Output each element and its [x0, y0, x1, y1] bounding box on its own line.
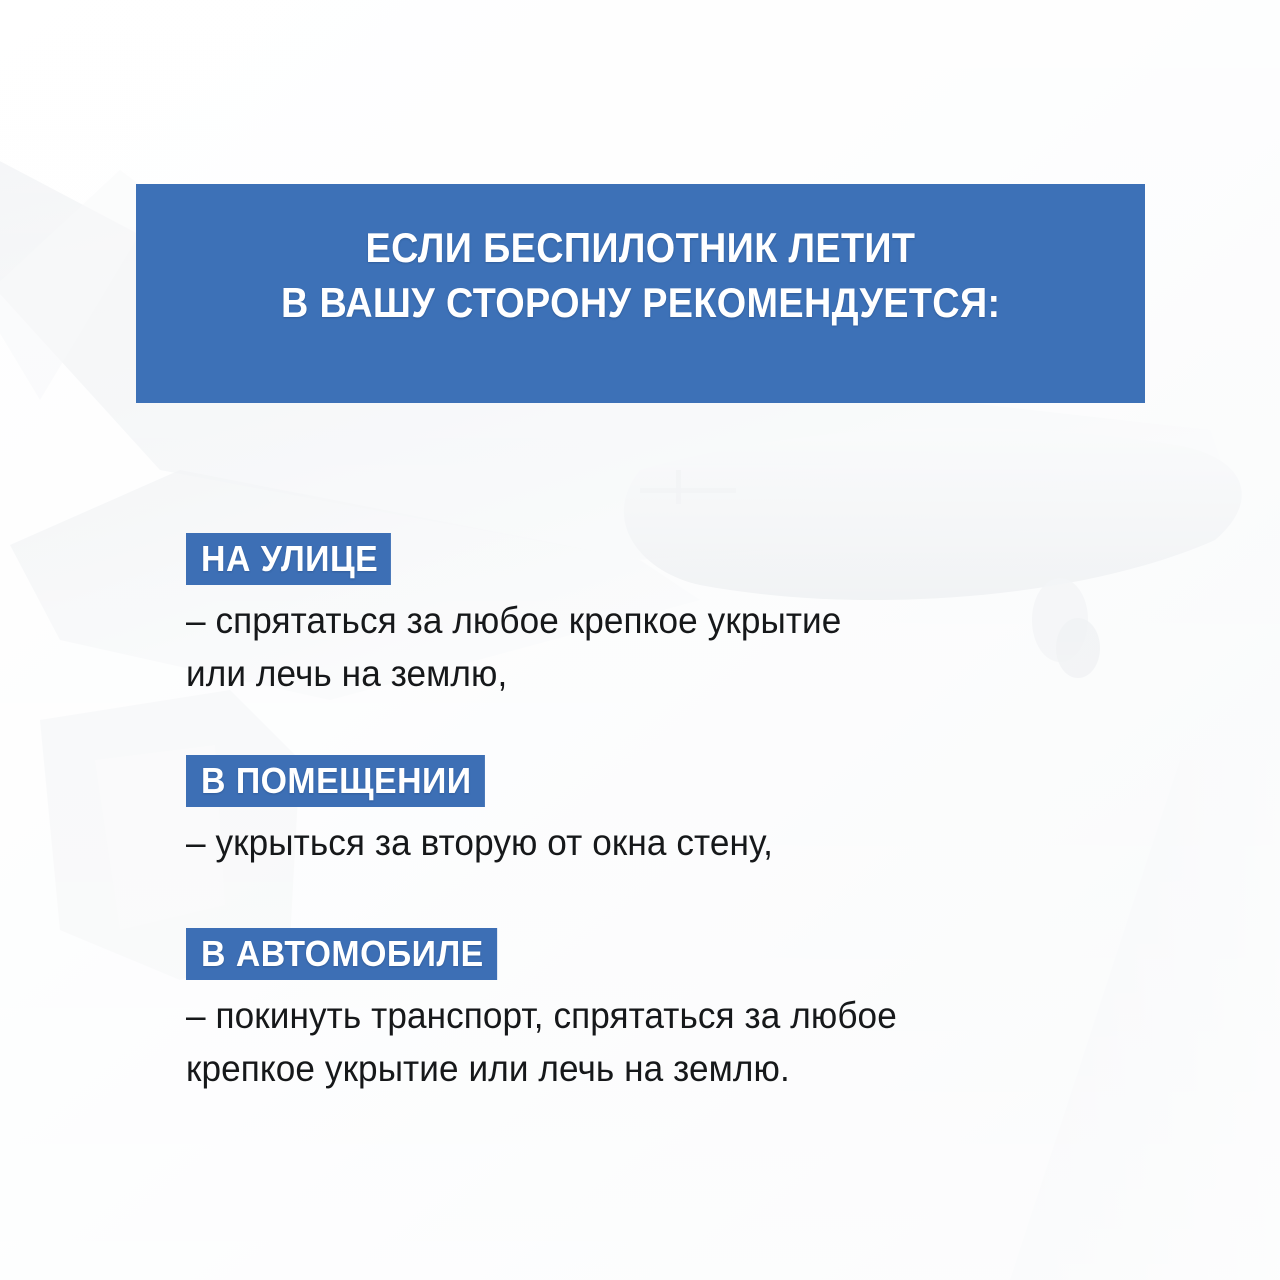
advice-text-street-line-2: или лечь на землю, — [186, 648, 841, 701]
infographic-poster: ЕСЛИ БЕСПИЛОТНИК ЛЕТИТ В ВАШУ СТОРОНУ РЕ… — [0, 0, 1280, 1280]
advice-text-street: – спрятаться за любое крепкое укрытие ил… — [186, 595, 841, 700]
advice-section-street: НА УЛИЦЕ – спрятаться за любое крепкое у… — [186, 533, 876, 700]
advice-section-car: В АВТОМОБИЛЕ – покинуть транспорт, спрят… — [186, 928, 934, 1095]
advice-text-car-line-1: – покинуть транспорт, спрятаться за любо… — [186, 990, 897, 1043]
badge-indoors: В ПОМЕЩЕНИИ — [186, 755, 485, 807]
advice-section-indoors: В ПОМЕЩЕНИИ – укрыться за вторую от окна… — [186, 755, 804, 870]
header-title-line-1: ЕСЛИ БЕСПИЛОТНИК ЛЕТИТ — [366, 221, 916, 276]
badge-car: В АВТОМОБИЛЕ — [186, 928, 497, 980]
header-title-line-2: В ВАШУ СТОРОНУ РЕКОМЕНДУЕТСЯ: — [281, 276, 1000, 331]
advice-text-indoors: – укрыться за вторую от окна стену, — [186, 817, 773, 870]
advice-text-car: – покинуть транспорт, спрятаться за любо… — [186, 990, 897, 1095]
advice-text-street-line-1: – спрятаться за любое крепкое укрытие — [186, 595, 841, 648]
advice-text-indoors-line-1: – укрыться за вторую от окна стену, — [186, 817, 773, 870]
header-banner: ЕСЛИ БЕСПИЛОТНИК ЛЕТИТ В ВАШУ СТОРОНУ РЕ… — [136, 184, 1145, 403]
badge-street: НА УЛИЦЕ — [186, 533, 391, 585]
advice-text-car-line-2: крепкое укрытие или лечь на землю. — [186, 1043, 897, 1096]
